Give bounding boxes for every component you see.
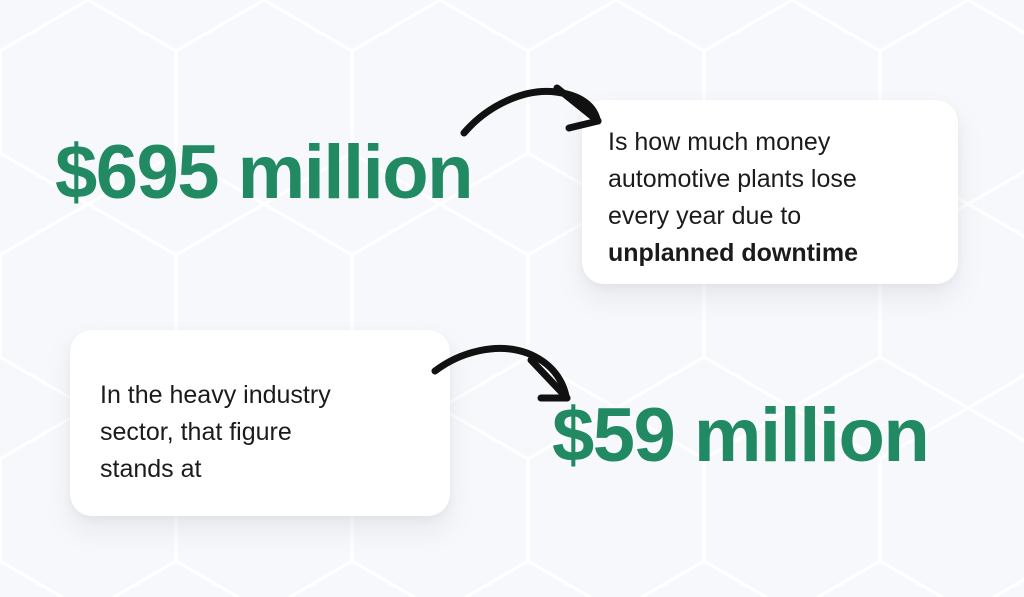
heavy-industry-line-3: stands at [100, 451, 420, 488]
primary-statistic: $695 million [55, 135, 472, 211]
heavy-industry-line-1: In the heavy industry [100, 377, 420, 414]
heavy-industry-card: In the heavy industry sector, that figur… [70, 330, 450, 516]
heavy-industry-line-2: sector, that figure [100, 414, 420, 451]
automotive-downtime-card: Is how much money automotive plants lose… [582, 100, 958, 284]
automotive-emphasis: unplanned downtime [608, 235, 932, 272]
automotive-line-1: Is how much money [608, 124, 932, 161]
automotive-line-2: automotive plants lose [608, 161, 932, 198]
automotive-line-3: every year due to [608, 198, 932, 235]
automotive-card-text: Is how much money automotive plants lose… [608, 124, 932, 272]
heavy-industry-card-text: In the heavy industry sector, that figur… [100, 377, 420, 488]
secondary-statistic: $59 million [552, 398, 928, 474]
infographic-stage: $695 million Is how much money automotiv… [0, 0, 1024, 597]
